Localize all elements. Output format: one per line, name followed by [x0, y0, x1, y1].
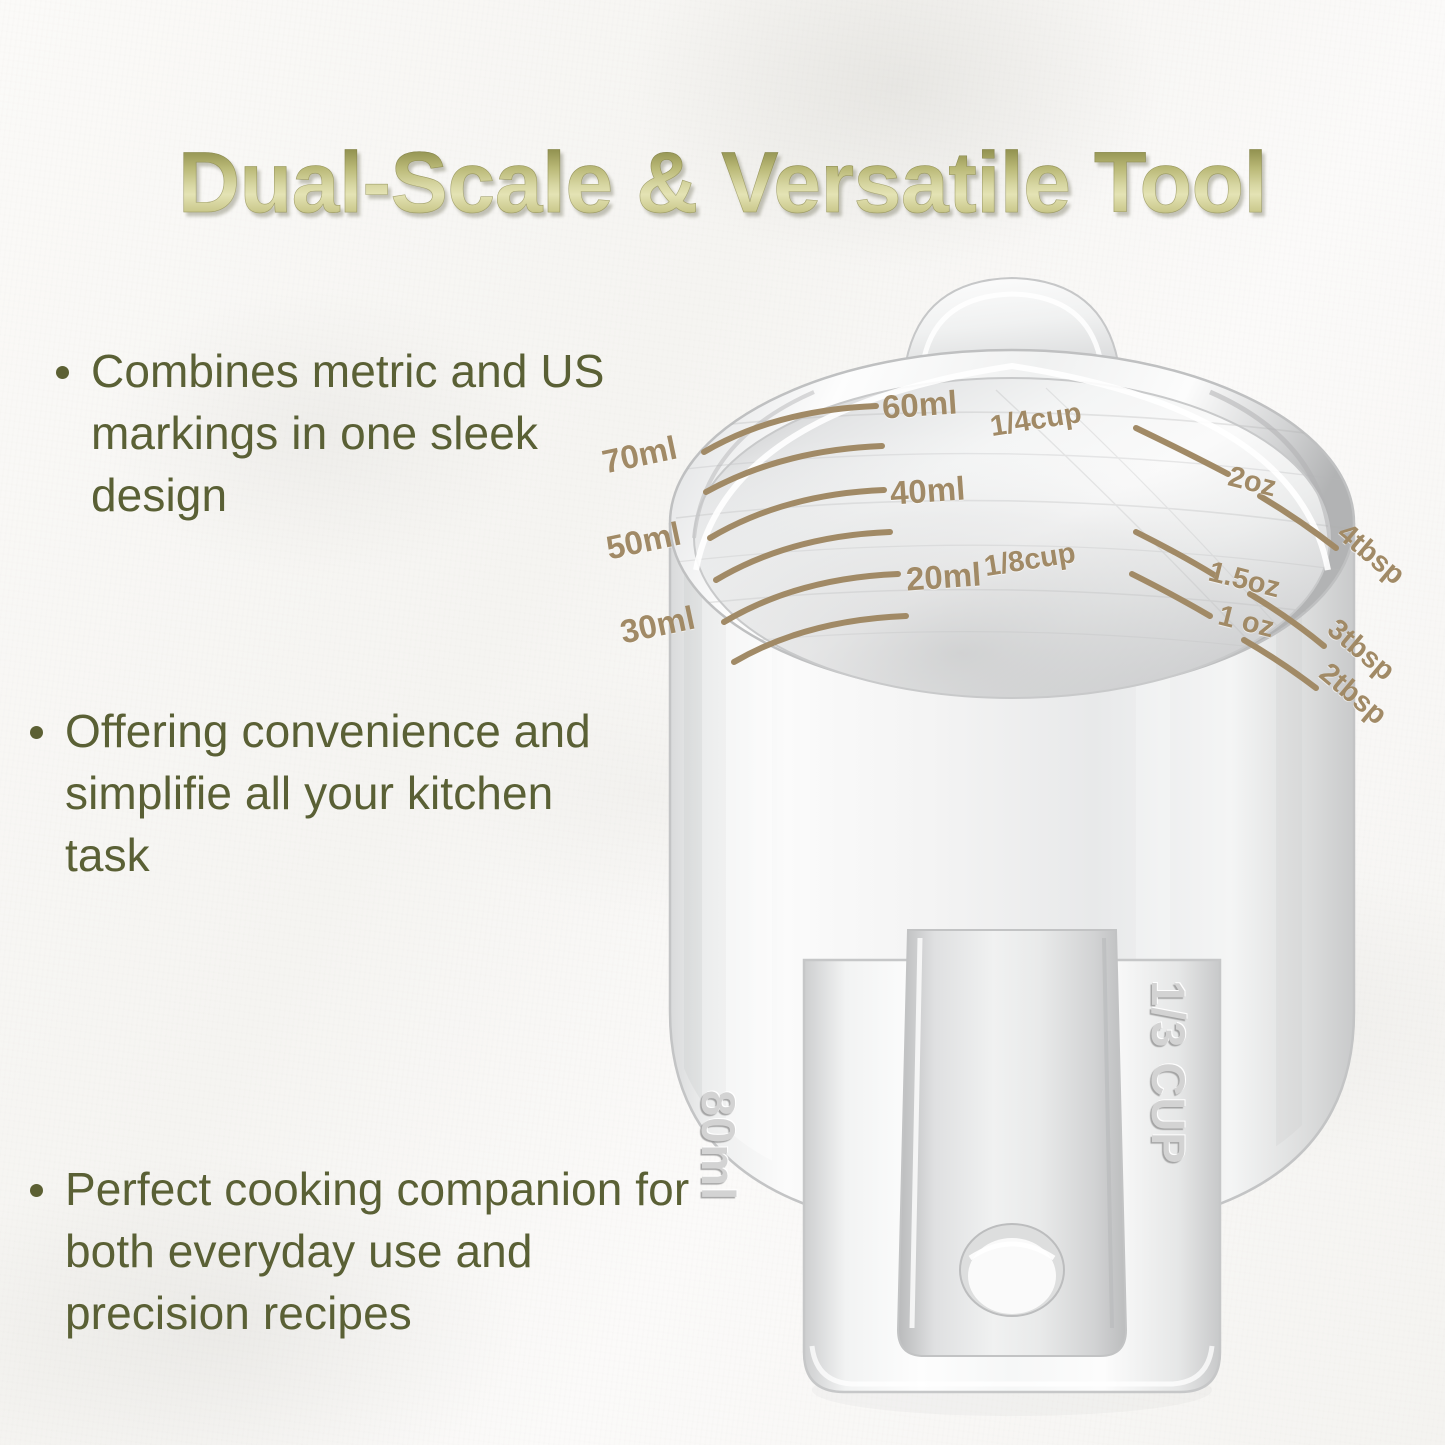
measuring-cup-product-image: 70ml 60ml 50ml 40ml 30ml 20ml 1/4cup 2oz…: [576, 270, 1445, 1445]
bullet-marker-icon: [30, 726, 43, 739]
measuring-cup-illustration: [576, 270, 1445, 1445]
feature-bullet-2: Offering convenience and simplifie all y…: [30, 700, 610, 886]
page-title: Dual-Scale & Versatile Tool: [0, 140, 1445, 226]
page-title-text: Dual-Scale & Versatile Tool: [178, 135, 1267, 231]
handle-us-capacity-label: 1/3 CUP: [1141, 980, 1196, 1165]
product-feature-image: Dual-Scale & Versatile Tool Combines met…: [0, 0, 1445, 1445]
bullet-marker-icon: [30, 1184, 43, 1197]
feature-bullet-2-text: Offering convenience and simplifie all y…: [65, 700, 610, 886]
feature-bullet-1: Combines metric and US markings in one s…: [56, 340, 656, 526]
feature-bullet-1-text: Combines metric and US markings in one s…: [91, 340, 656, 526]
marking-60ml: 60ml: [881, 383, 959, 426]
marking-40ml: 40ml: [889, 469, 967, 512]
bullet-marker-icon: [56, 366, 69, 379]
marking-20ml: 20ml: [905, 555, 983, 598]
hanging-hole: [960, 1224, 1064, 1316]
handle-metric-capacity-label: 80ml: [691, 1090, 746, 1201]
